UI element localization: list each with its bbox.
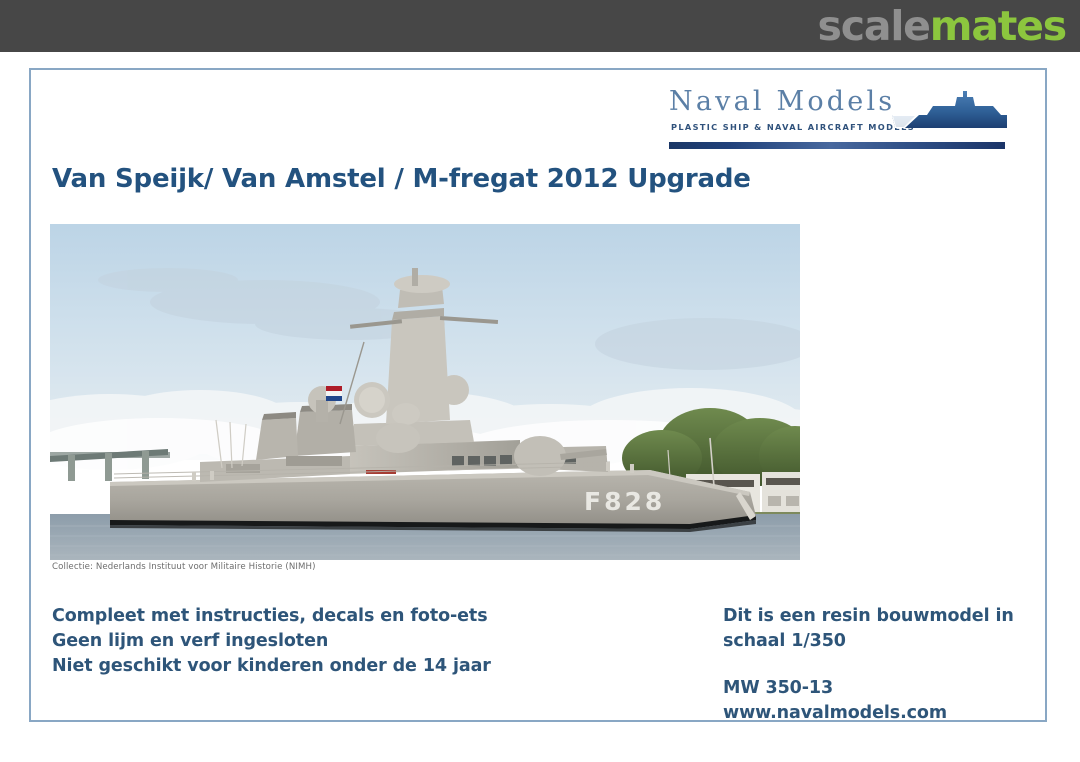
photo-caption: Collectie: Nederlands Instituut voor Mil… [52, 562, 316, 572]
feature-line-2: Geen lijm en verf ingesloten [52, 629, 491, 654]
product-photo-block: F828 [50, 224, 800, 560]
scalemates-logo[interactable]: scalemates [818, 2, 1066, 50]
feature-line-1: Compleet met instructies, decals en foto… [52, 604, 491, 629]
scalemates-logo-mates: mates [930, 2, 1066, 50]
naval-models-logo: Naval Models PLASTIC SHIP & NAVAL AIRCRA… [669, 84, 1009, 160]
scalemates-logo-scale: scale [818, 2, 930, 50]
scale-line-1: Dit is een resin bouwmodel in [723, 604, 1043, 629]
naval-models-tagline: PLASTIC SHIP & NAVAL AIRCRAFT MODELS [671, 122, 915, 132]
naval-models-rule [669, 142, 1005, 149]
product-sku: MW 350-13 [723, 676, 1043, 701]
scale-line-2: schaal 1/350 [723, 629, 1043, 654]
feature-line-3: Niet geschikt voor kinderen onder de 14 … [52, 654, 491, 679]
paper-frame-border: Naval Models PLASTIC SHIP & NAVAL AIRCRA… [29, 68, 1047, 722]
product-info-block: Dit is een resin bouwmodel in schaal 1/3… [723, 604, 1043, 726]
page-title: Van Speijk/ Van Amstel / M-fregat 2012 U… [52, 164, 751, 194]
site-header-bar: scalemates [0, 0, 1080, 52]
naval-models-wordmark: Naval Models [669, 86, 895, 117]
frigate-photo: F828 [50, 224, 800, 560]
spacer [723, 654, 1043, 676]
product-sheet: Naval Models PLASTIC SHIP & NAVAL AIRCRA… [0, 52, 1080, 762]
svg-text:F828: F828 [584, 487, 665, 516]
ship-silhouette-icon [889, 84, 1007, 142]
product-website[interactable]: www.navalmodels.com [723, 701, 1043, 726]
features-text-block: Compleet met instructies, decals en foto… [52, 604, 491, 679]
